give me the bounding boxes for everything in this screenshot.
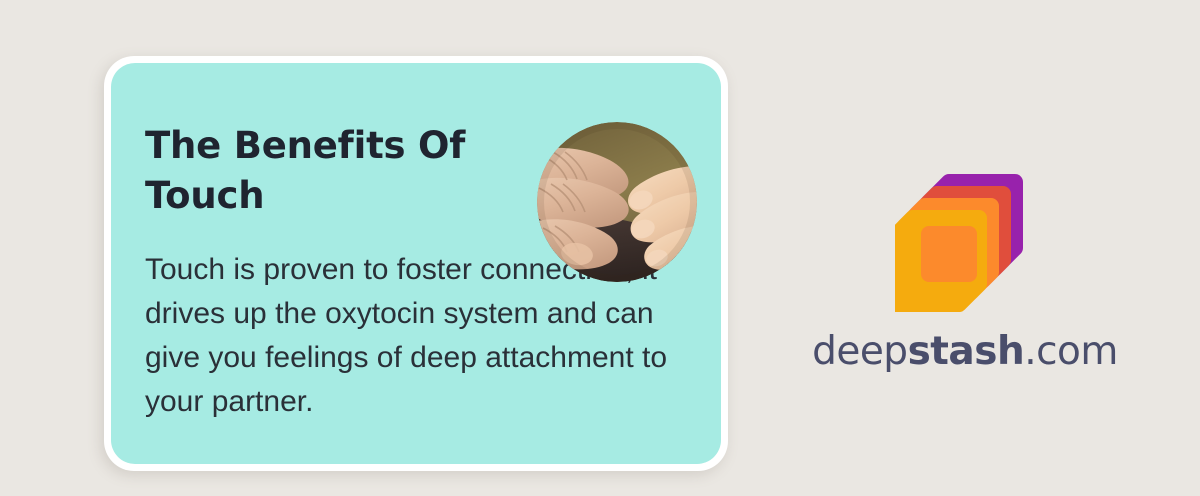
wordmark-suffix: .com [1024, 329, 1118, 374]
hands-clasped-photo [537, 122, 697, 282]
quote-card: The Benefits Of Touch Touch is proven to… [104, 56, 728, 471]
wordmark-prefix: deep [812, 329, 908, 374]
quote-card-inner: The Benefits Of Touch Touch is proven to… [111, 63, 721, 464]
wordmark-emphasis: stash [908, 329, 1025, 374]
screenshot-stage: The Benefits Of Touch Touch is proven to… [0, 0, 1200, 496]
page-title: The Benefits Of Touch [145, 121, 505, 222]
deepstash-stacked-cube-logo [895, 162, 1045, 312]
brand-block: deepstash.com [790, 150, 1140, 380]
brand-wordmark[interactable]: deepstash.com [790, 332, 1140, 371]
